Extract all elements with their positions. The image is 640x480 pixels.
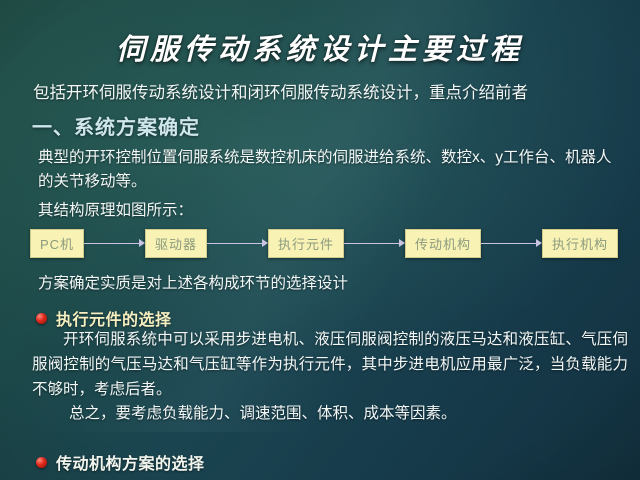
flow-node-label: 传动机构 bbox=[406, 234, 480, 253]
flow-node-label: 执行机构 bbox=[543, 234, 617, 253]
paragraph-typical-system: 典型的开环控制位置伺服系统是数控机床的伺服进给系统、数控x、y工作台、机器人的关… bbox=[38, 146, 624, 194]
flow-node-label: PC机 bbox=[31, 234, 83, 253]
paragraph-summary: 总之，要考虑负载能力、调速范围、体积、成本等因素。 bbox=[38, 402, 624, 426]
arrow-right-icon bbox=[344, 239, 405, 248]
flowchart: PC机 驱动器 执行元件 传动机构 bbox=[30, 228, 618, 258]
paragraph-structure-intro: 其结构原理如图所示： bbox=[38, 199, 624, 223]
flow-node-executing-mechanism[interactable]: 执行机构 bbox=[542, 229, 618, 258]
arrow-right-icon bbox=[84, 239, 145, 248]
section-heading: 一、系统方案确定 bbox=[32, 111, 200, 140]
presentation-slide: 伺服传动系统设计主要过程 包括开环伺服传动系统设计和闭环伺服传动系统设计，重点介… bbox=[0, 0, 640, 480]
paragraph-essence: 方案确定实质是对上述各构成环节的选择设计 bbox=[38, 272, 624, 296]
flow-node-driver[interactable]: 驱动器 bbox=[145, 229, 207, 258]
bullet-item-label: 传动机构方案的选择 bbox=[56, 450, 205, 474]
flow-node-transmission[interactable]: 传动机构 bbox=[405, 229, 481, 258]
bullet-item-transmission-selection[interactable]: 传动机构方案的选择 bbox=[36, 450, 205, 474]
red-bullet-icon bbox=[36, 313, 47, 324]
paragraph-actuator-body: 开环伺服系统中可以采用步进电机、液压伺服阀控制的液压马达和液压缸、气压伺服阀控制… bbox=[32, 327, 628, 402]
flow-node-actuator-element[interactable]: 执行元件 bbox=[268, 229, 344, 258]
lead-paragraph: 包括开环伺服传动系统设计和闭环伺服传动系统设计，重点介绍前者 bbox=[33, 79, 528, 103]
red-bullet-icon bbox=[36, 457, 47, 468]
arrow-right-icon bbox=[481, 239, 542, 248]
page-title: 伺服传动系统设计主要过程 bbox=[0, 26, 640, 68]
arrow-right-icon bbox=[207, 239, 268, 248]
flow-node-label: 驱动器 bbox=[146, 234, 206, 253]
flow-node-pc[interactable]: PC机 bbox=[30, 229, 84, 258]
flow-node-label: 执行元件 bbox=[269, 234, 343, 253]
